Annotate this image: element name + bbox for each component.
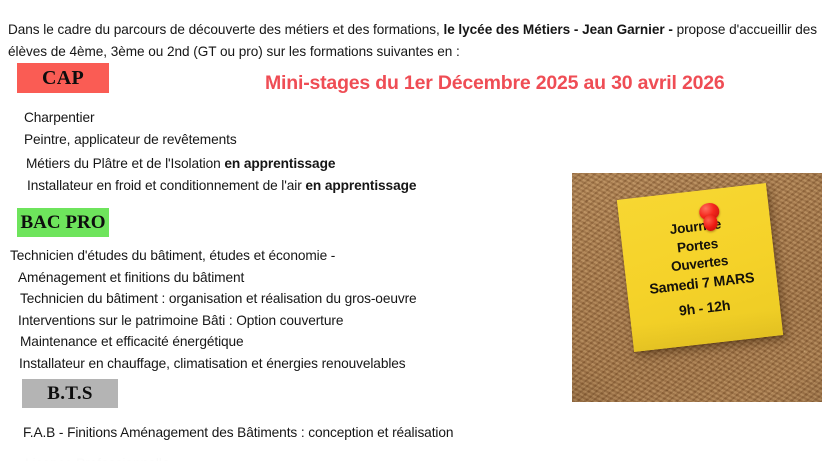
formation-name: F.A.B - Finitions Aménagement des Bâtime… — [23, 425, 453, 440]
formation-name: Maintenance et efficacité énergétique — [20, 334, 244, 349]
list-item: Technicien du bâtiment : organisation et… — [20, 288, 417, 310]
list-item: Maintenance et efficacité énergétique — [20, 331, 417, 353]
formation-name: Aménagement et finitions du bâtiment — [18, 270, 244, 285]
section-badge-bac-pro-label: BAC PRO — [21, 212, 106, 234]
list-item: Installateur en froid et conditionnement… — [27, 175, 416, 197]
formation-name: Métiers du Plâtre et de l'Isolation — [26, 156, 224, 171]
pushpin-icon — [697, 202, 722, 234]
intro-text-part-1: Dans le cadre du parcours de découverte … — [8, 22, 443, 37]
section-badge-bts: B.T.S — [22, 379, 118, 408]
formation-list-bts: F.A.B - Finitions Aménagement des Bâtime… — [23, 422, 453, 444]
pushpin-body — [703, 214, 719, 231]
section-badge-bac-pro: BAC PRO — [17, 208, 109, 237]
clipped-bottom-line: Licence Professionnelle — [25, 453, 170, 461]
list-item: Installateur en chauffage, climatisation… — [19, 353, 417, 375]
formation-name: Technicien d'études du bâtiment, études … — [10, 248, 335, 263]
list-item: Interventions sur le patrimoine Bâti : O… — [18, 310, 417, 332]
section-badge-cap: CAP — [17, 63, 109, 93]
formation-name: Installateur en froid et conditionnement… — [27, 178, 305, 193]
main-title: Mini-stages du 1er Décembre 2025 au 30 a… — [265, 72, 725, 95]
list-item: Métiers du Plâtre et de l'Isolation en a… — [26, 153, 416, 175]
corkboard-photo: Journée Portes Ouvertes Samedi 7 MARS 9h… — [572, 173, 822, 402]
formation-name: Peintre, applicateur de revêtements — [24, 132, 237, 147]
list-item: F.A.B - Finitions Aménagement des Bâtime… — [23, 422, 453, 444]
list-item: Charpentier — [24, 107, 416, 129]
list-item: Technicien d'études du bâtiment, études … — [10, 245, 417, 267]
formation-name: Installateur en chauffage, climatisation… — [19, 356, 406, 371]
list-item: Peintre, applicateur de revêtements — [24, 129, 416, 151]
intro-paragraph: Dans le cadre du parcours de découverte … — [8, 19, 818, 63]
formation-list-cap: Charpentier Peintre, applicateur de revê… — [22, 107, 416, 196]
formation-name: Technicien du bâtiment : organisation et… — [20, 291, 417, 306]
document-page: Dans le cadre du parcours de découverte … — [0, 0, 837, 461]
formation-name: Charpentier — [24, 110, 94, 125]
section-badge-cap-label: CAP — [42, 67, 84, 90]
formation-list-bac-pro: Technicien d'études du bâtiment, études … — [10, 245, 417, 374]
formation-name: Interventions sur le patrimoine Bâti : O… — [18, 313, 343, 328]
section-badge-bts-label: B.T.S — [47, 383, 93, 405]
intro-text-part-2: propose — [677, 22, 726, 37]
formation-note: en apprentissage — [224, 156, 335, 171]
formation-note: en apprentissage — [305, 178, 416, 193]
intro-school-name: le lycée des Métiers - Jean Garnier - — [443, 22, 676, 37]
list-item: Aménagement et finitions du bâtiment — [18, 267, 417, 289]
